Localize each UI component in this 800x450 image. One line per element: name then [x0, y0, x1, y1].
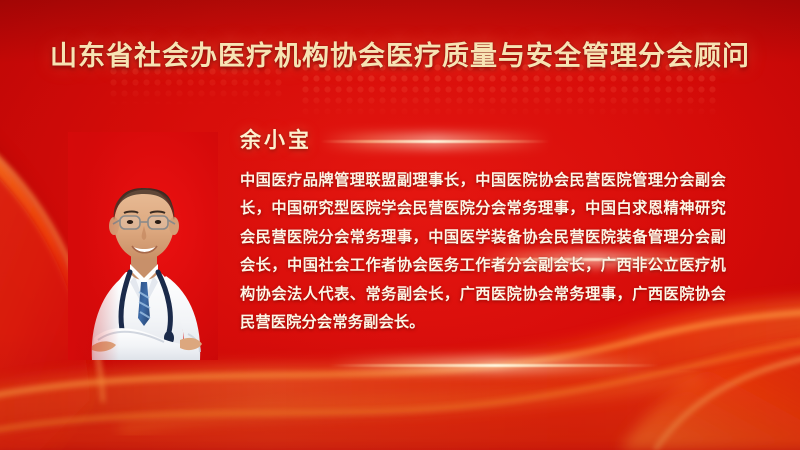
- avatar-edge-fade: [68, 132, 218, 360]
- page-title: 山东省社会办医疗机构协会医疗质量与安全管理分会顾问: [0, 34, 800, 73]
- slide-canvas: 山东省社会办医疗机构协会医疗质量与安全管理分会顾问: [0, 0, 800, 450]
- profile-bio: 中国医疗品牌管理联盟副理事长，中国医院协会民营医院管理分会副会长，中国研究型医院…: [240, 166, 726, 336]
- avatar: [68, 132, 218, 360]
- profile-name: 余小宝: [240, 124, 312, 154]
